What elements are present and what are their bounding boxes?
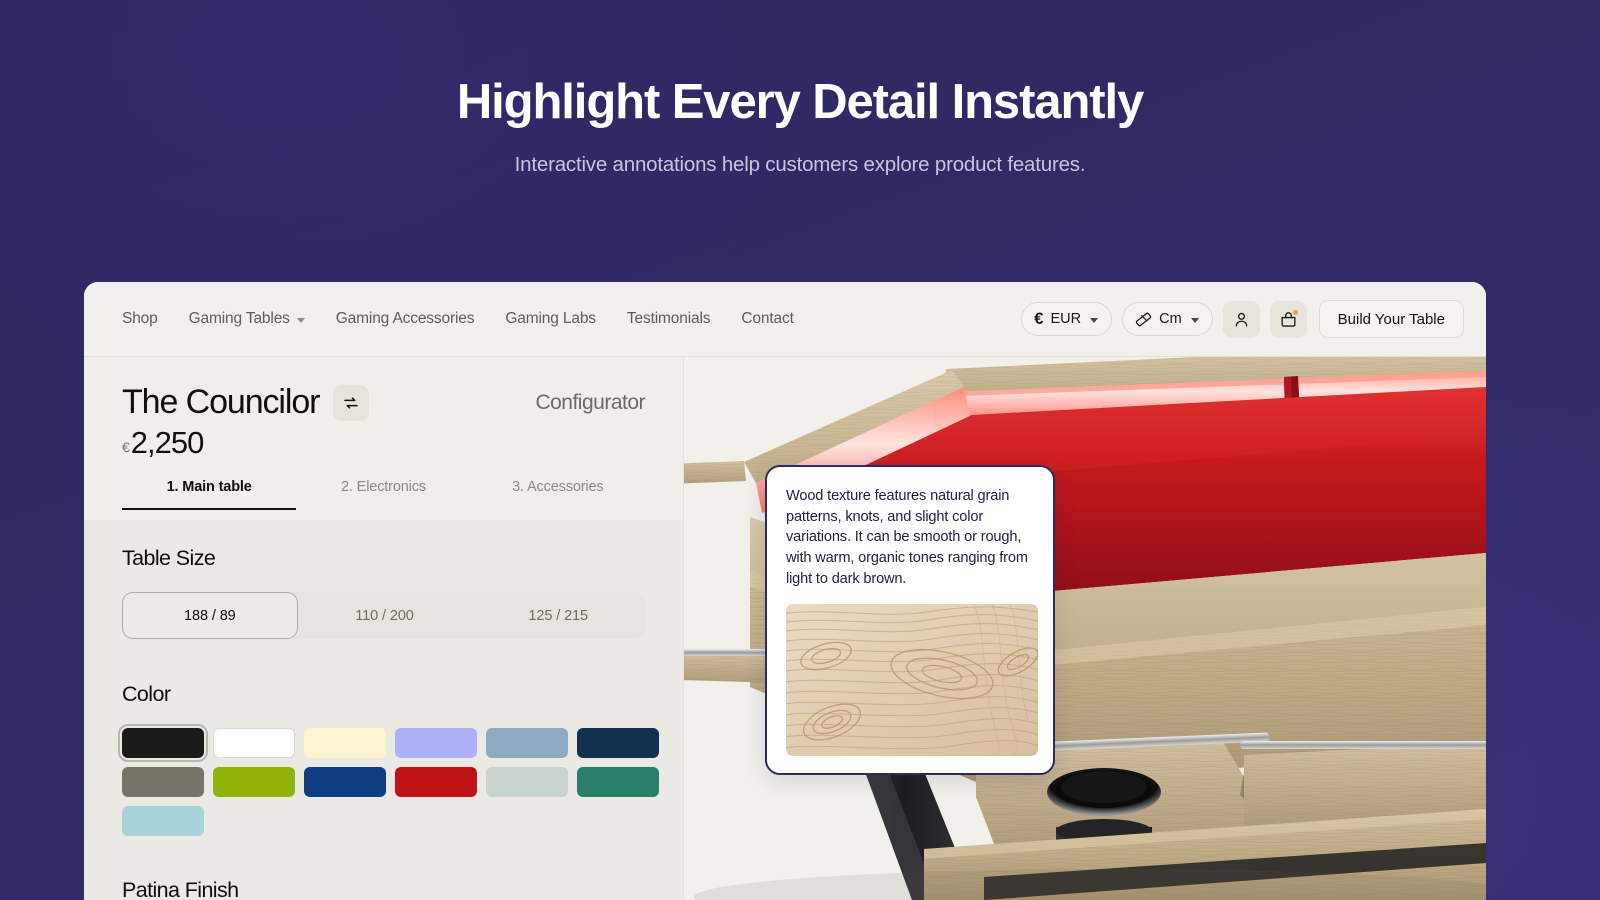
nav-item-label: Gaming Labs	[505, 310, 596, 328]
tab-main-table[interactable]: 1. Main table	[122, 479, 296, 510]
cart-badge-dot	[1293, 310, 1298, 315]
hero-section: Highlight Every Detail Instantly Interac…	[0, 0, 1600, 282]
swap-model-button[interactable]	[333, 385, 369, 421]
unit-selector[interactable]: Cm	[1122, 302, 1213, 336]
color-swatch-cream[interactable]	[304, 728, 386, 758]
tab-electronics[interactable]: 2. Electronics	[296, 479, 470, 510]
nav-item-label: Testimonials	[627, 310, 710, 328]
color-swatch-grid	[122, 728, 645, 836]
color-swatch-white[interactable]	[213, 728, 295, 758]
table-size-options: 188 / 89 110 / 200 125 / 215	[122, 592, 645, 639]
tab-label: 2. Electronics	[341, 479, 426, 495]
build-your-table-label: Build Your Table	[1338, 311, 1445, 328]
color-swatch-warm-gray[interactable]	[122, 767, 204, 797]
swap-arrows-icon	[342, 394, 360, 412]
ruler-icon	[1135, 311, 1152, 328]
color-swatch-steel-blue[interactable]	[486, 728, 568, 758]
nav-item-gaming-tables[interactable]: Gaming Tables	[189, 310, 305, 328]
size-option-label: 125 / 215	[528, 608, 588, 624]
currency-selector[interactable]: € EUR	[1021, 302, 1112, 336]
product-header: The Councilor Configurator	[84, 357, 683, 520]
nav-actions: € EUR Cm	[1021, 300, 1464, 338]
build-your-table-button[interactable]: Build Your Table	[1319, 300, 1464, 338]
product-title: The Councilor	[122, 383, 319, 422]
nav-item-label: Contact	[741, 310, 793, 328]
unit-label: Cm	[1159, 311, 1182, 327]
nav-item-shop[interactable]: Shop	[122, 310, 158, 328]
tab-label: 3. Accessories	[512, 479, 603, 495]
configurator-mode-label: Configurator	[535, 391, 645, 415]
size-option-label: 188 / 89	[184, 608, 236, 624]
euro-icon: €	[1034, 311, 1043, 328]
size-option-125-215[interactable]: 125 / 215	[471, 592, 645, 639]
configurator-tabs: 1. Main table 2. Electronics 3. Accessor…	[122, 479, 645, 510]
section-title-table-size: Table Size	[122, 520, 645, 571]
nav-item-gaming-accessories[interactable]: Gaming Accessories	[336, 310, 475, 328]
price-currency-symbol: €	[122, 439, 130, 455]
size-option-110-200[interactable]: 110 / 200	[298, 592, 472, 639]
chevron-down-icon	[1191, 318, 1199, 323]
configurator-panel: The Councilor Configurator	[84, 357, 684, 900]
tab-accessories[interactable]: 3. Accessories	[471, 479, 645, 510]
chevron-down-icon	[1090, 318, 1098, 323]
nav-item-testimonials[interactable]: Testimonials	[627, 310, 710, 328]
annotation-tooltip-text: Wood texture features natural grain patt…	[786, 486, 1034, 590]
app-window: Shop Gaming Tables Gaming Accessories Ga…	[84, 282, 1486, 900]
section-title-color: Color	[122, 639, 645, 707]
color-swatch-pale-sage[interactable]	[486, 767, 568, 797]
configurator-sections: Table Size 188 / 89 110 / 200 125 / 215	[84, 520, 683, 900]
tab-label: 1. Main table	[167, 479, 252, 495]
app-body: The Councilor Configurator	[84, 357, 1486, 900]
chevron-down-icon	[297, 318, 305, 323]
nav-item-label: Shop	[122, 310, 158, 328]
nav-item-label: Gaming Tables	[189, 310, 290, 328]
product-viewer[interactable]: Wood texture features natural grain patt…	[684, 357, 1486, 900]
color-swatch-light-blue[interactable]	[122, 806, 204, 836]
color-swatch-olive-green[interactable]	[213, 767, 295, 797]
cart-button[interactable]	[1270, 301, 1307, 338]
section-title-patina-finish: Patina Finish	[122, 836, 645, 900]
product-price: € 2,250	[122, 425, 645, 461]
navbar: Shop Gaming Tables Gaming Accessories Ga…	[84, 282, 1486, 357]
price-value: 2,250	[131, 425, 204, 461]
hero-subtitle: Interactive annotations help customers e…	[0, 153, 1600, 177]
color-swatch-red[interactable]	[395, 767, 477, 797]
nav-item-gaming-labs[interactable]: Gaming Labs	[505, 310, 596, 328]
color-swatch-periwinkle[interactable]	[395, 728, 477, 758]
color-swatch-teal[interactable]	[577, 767, 659, 797]
nav-item-contact[interactable]: Contact	[741, 310, 793, 328]
currency-label: EUR	[1050, 311, 1081, 327]
nav-links: Shop Gaming Tables Gaming Accessories Ga…	[122, 310, 794, 328]
color-swatch-navy[interactable]	[577, 728, 659, 758]
nav-item-label: Gaming Accessories	[336, 310, 475, 328]
page-root: Highlight Every Detail Instantly Interac…	[0, 0, 1600, 900]
product-title-row: The Councilor Configurator	[122, 383, 645, 422]
color-swatch-black[interactable]	[122, 728, 204, 758]
page-title: Highlight Every Detail Instantly	[0, 76, 1600, 130]
color-swatch-royal-blue[interactable]	[304, 767, 386, 797]
wood-grain-texture-swatch	[786, 604, 1038, 756]
user-icon	[1232, 310, 1251, 329]
annotation-tooltip[interactable]: Wood texture features natural grain patt…	[765, 465, 1055, 775]
size-option-188-89[interactable]: 188 / 89	[122, 592, 298, 639]
account-button[interactable]	[1223, 301, 1260, 338]
size-option-label: 110 / 200	[355, 608, 414, 624]
